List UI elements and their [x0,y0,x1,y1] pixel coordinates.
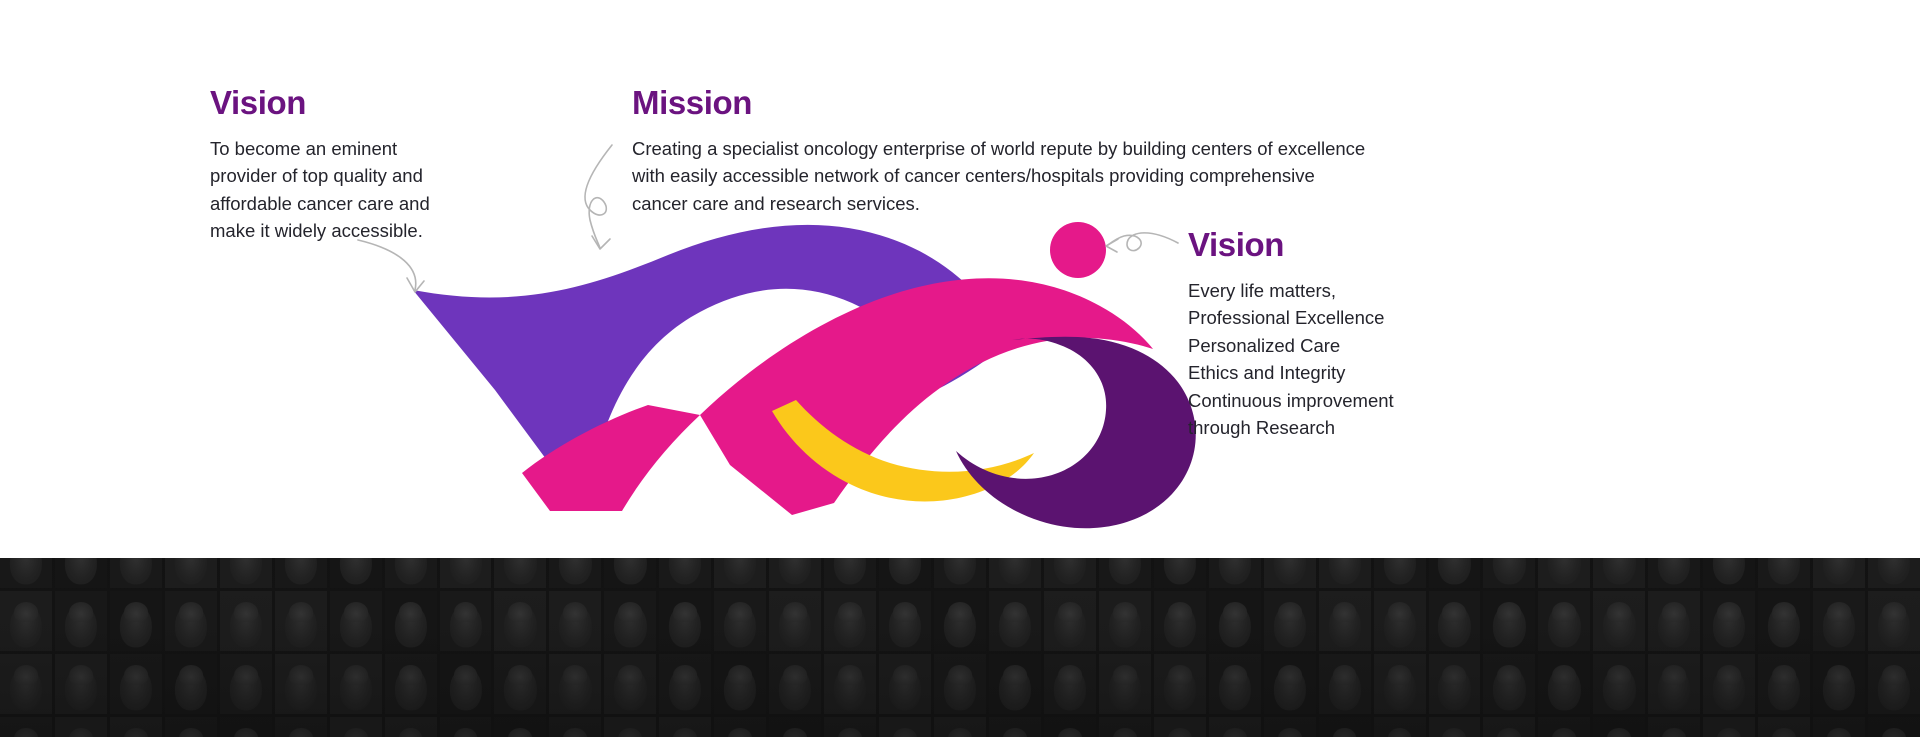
vision-right-body: Every life matters, Professional Excelle… [1188,277,1438,442]
mission-heading: Mission [632,86,1372,121]
oncology-infinity-logo [400,215,1200,525]
slide-canvas: Vision To become an eminent provider of … [0,0,1920,737]
logo-dark-purple-crescent [956,337,1196,529]
logo-magenta-dot [1050,222,1106,278]
mission-body: Creating a specialist oncology enterpris… [632,135,1372,218]
vision-right-heading: Vision [1188,228,1438,263]
vision-left-heading: Vision [210,86,440,121]
vision-left-block: Vision To become an eminent provider of … [210,86,440,245]
people-faces-collage [0,558,1920,737]
vision-right-block: Vision Every life matters, Professional … [1188,228,1438,442]
collage-dark-overlay [0,558,1920,737]
mission-block: Mission Creating a specialist oncology e… [632,86,1372,217]
vision-left-body: To become an eminent provider of top qua… [210,135,440,245]
